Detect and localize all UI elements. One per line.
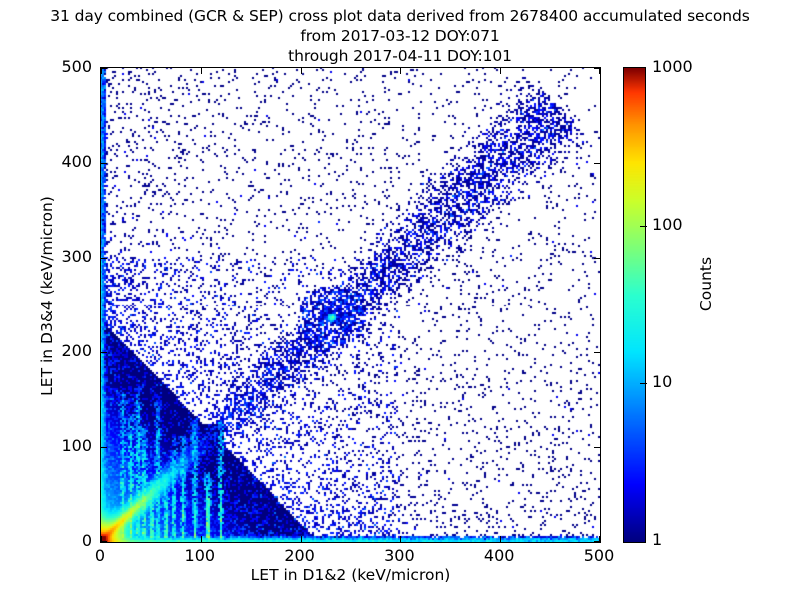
figure-canvas: 31 day combined (GCR & SEP) cross plot d… [0,0,800,600]
x-axis-tick [201,536,202,542]
x-axis-tick [301,536,302,542]
y-axis-tick [101,447,107,448]
colorbar-tick-label: 10 [652,372,672,391]
colorbar-gradient [623,67,646,543]
y-axis-tick [101,163,107,164]
x-tick-label: 400 [459,546,539,565]
x-tick-label: 100 [160,546,240,565]
colorbar-tick [640,226,647,227]
density-scatter-plot [101,68,600,542]
x-tick-label: 500 [559,546,639,565]
x-axis-label: LET in D1&2 (keV/micron) [100,566,601,584]
colorbar-label: Counts [697,184,715,384]
colorbar-tick-label: 100 [652,215,683,234]
y-axis-tick [594,68,600,69]
y-tick-label: 0 [0,531,92,550]
x-axis-tick [400,68,401,74]
y-axis-tick [594,541,600,542]
y-axis-tick [101,541,107,542]
y-tick-label: 500 [0,57,92,76]
x-axis-tick [400,536,401,542]
colorbar-tick-label: 1000 [652,57,693,76]
y-axis-tick [101,68,107,69]
y-axis-tick [101,352,107,353]
y-axis-label: LET in D3&4 (keV/micron) [38,131,56,461]
y-axis-tick [594,447,600,448]
y-axis-tick [594,163,600,164]
x-tick-label: 200 [260,546,340,565]
chart-title-line-1: 31 day combined (GCR & SEP) cross plot d… [0,6,800,26]
chart-title-line-2: from 2017-03-12 DOY:071 [0,26,800,46]
x-axis-tick [500,536,501,542]
x-tick-label: 300 [359,546,439,565]
x-axis-tick [500,68,501,74]
x-axis-tick [301,68,302,74]
y-axis-tick [101,258,107,259]
colorbar-tick [640,383,647,384]
y-axis-tick [594,352,600,353]
y-axis-tick [594,258,600,259]
colorbar-tick-label: 1 [652,530,662,549]
plot-axes-frame [100,67,601,543]
colorbar: 1101001000 [623,67,646,543]
x-axis-tick [201,68,202,74]
